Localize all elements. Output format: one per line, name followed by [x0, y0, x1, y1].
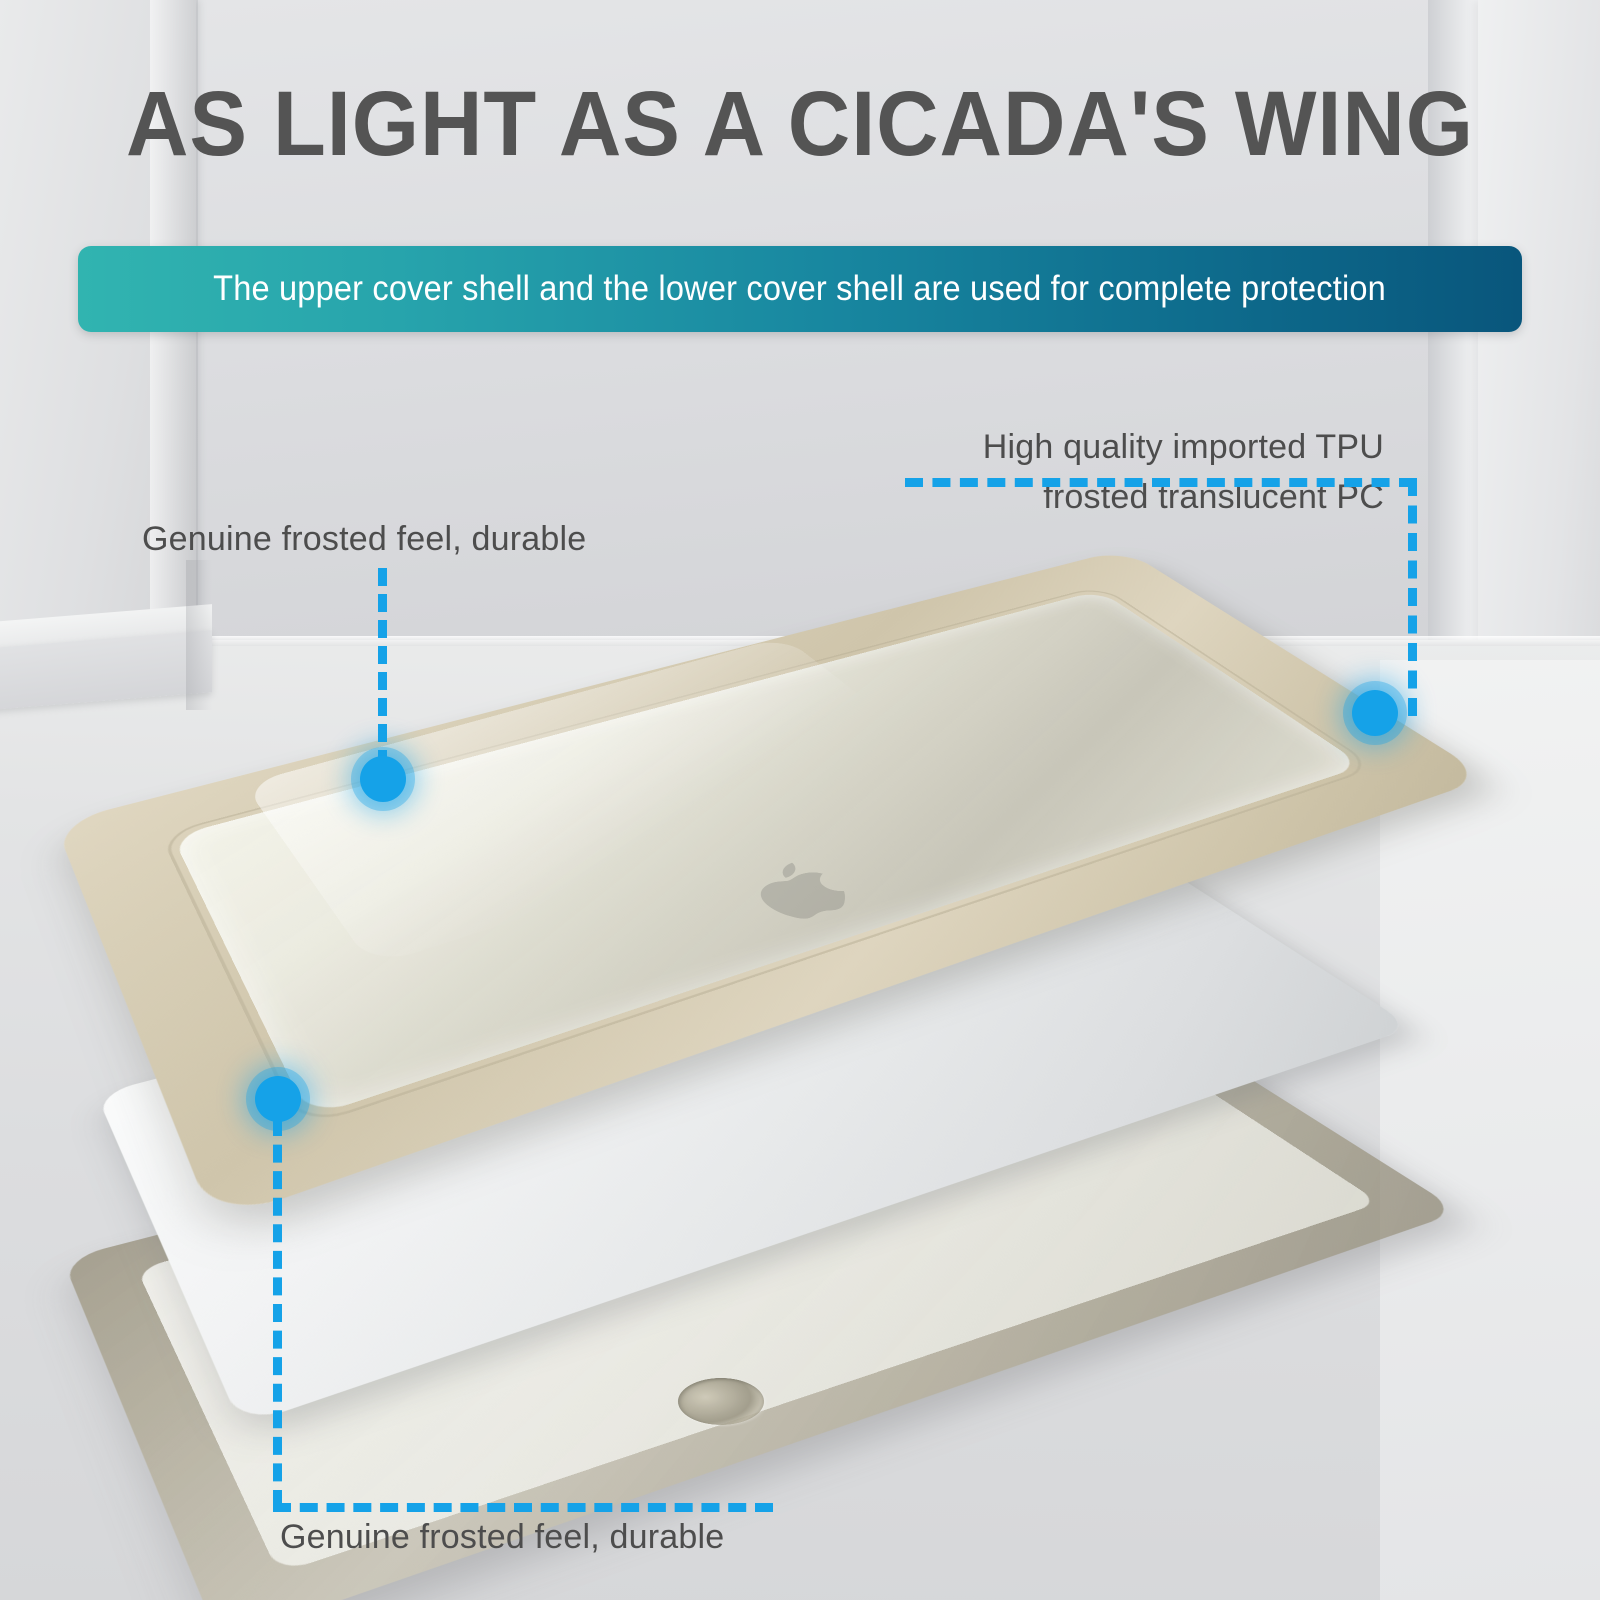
- subtitle-banner-text: The upper cover shell and the lower cove…: [214, 269, 1387, 309]
- subtitle-banner: The upper cover shell and the lower cove…: [78, 246, 1522, 332]
- callout-label-upper-right: High quality imported TPU frosted transl…: [912, 422, 1384, 522]
- callout-marker-upper-left: [360, 756, 406, 802]
- callout-marker-upper-right: [1352, 690, 1398, 736]
- callout-leader-upper-left: [378, 568, 387, 768]
- callout-leader-upper-right-horizontal: [905, 478, 1417, 487]
- callout-leader-upper-right-vertical: [1408, 478, 1417, 716]
- callout-leader-lower-left-horizontal: [273, 1503, 773, 1512]
- page-title: AS LIGHT AS A CICADA'S WING: [48, 72, 1552, 177]
- product-infographic: AS LIGHT AS A CICADA'S WING The upper co…: [0, 0, 1600, 1600]
- callout-label-upper-right-line1: High quality imported TPU: [912, 422, 1384, 472]
- exploded-product-render: [0, 0, 1600, 1600]
- upper-cover-shell: [135, 495, 1435, 1105]
- callout-label-lower-left: Genuine frosted feel, durable: [280, 1518, 724, 1557]
- callout-label-upper-left: Genuine frosted feel, durable: [142, 520, 586, 559]
- callout-marker-lower-left: [255, 1076, 301, 1122]
- callout-leader-lower-left-vertical: [273, 1118, 282, 1508]
